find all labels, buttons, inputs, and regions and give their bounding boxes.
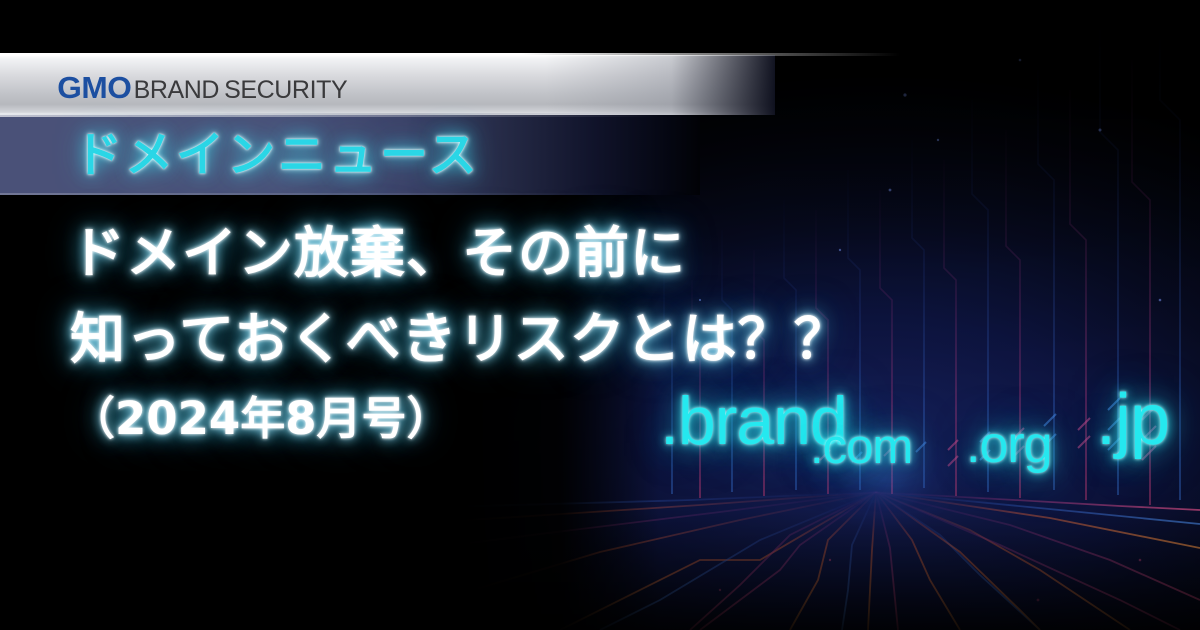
domain-label-jp: .jp — [1096, 379, 1169, 461]
logo-brand-word: BRAND — [134, 76, 220, 104]
bottom-fade-overlay — [0, 510, 1200, 630]
logo-security-word: SECURITY — [224, 76, 347, 104]
headline-line-2: 知っておくべきリスクとは？？ — [70, 300, 890, 378]
category-label: ドメインニュース — [74, 123, 480, 187]
logo-brand-security-text: BRANDSECURITY — [134, 76, 348, 105]
category-band-top-line — [0, 115, 660, 117]
domain-label-com: .com — [810, 419, 912, 475]
domain-label-org: .org — [966, 415, 1052, 475]
gmo-brand-security-logo: GMO BRANDSECURITY — [58, 70, 347, 106]
headline-line-1: ドメイン放棄、その前に — [70, 214, 890, 292]
logo-gmo-text: GMO — [57, 70, 131, 106]
header-top-highlight-line — [0, 53, 900, 56]
category-band-bottom-line — [0, 193, 620, 195]
poster-canvas: GMO BRANDSECURITY ドメインニュース ドメイン放棄、その前に 知… — [0, 0, 1200, 630]
